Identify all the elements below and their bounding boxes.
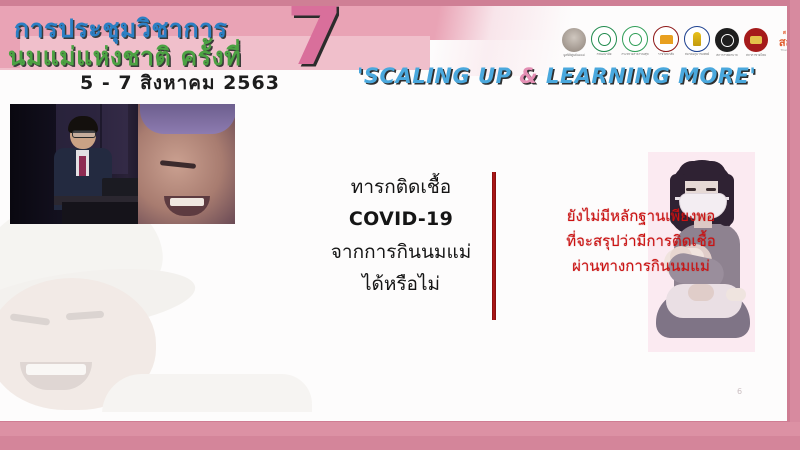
sss-logo-sub: Thai Health xyxy=(780,48,787,52)
green-medical-emblem-logo: กรมอนามัย xyxy=(591,26,617,52)
tagline-part1: 'SCALING UP xyxy=(357,64,519,88)
conference-edition-number: 7 xyxy=(286,6,343,78)
question-line-3: จากการกินนมแม่ xyxy=(322,236,480,268)
background-child-photo-watermark xyxy=(0,212,322,412)
answer-line-1: ยังไม่มีหลักฐานเพียงพอ xyxy=(500,204,782,229)
red-crest-logo: สภากาชาดไทย xyxy=(744,28,768,52)
mother-hand xyxy=(688,284,714,301)
projected-baby-teeth xyxy=(170,198,204,206)
royal-crest-logo-caption: ราชวิทยาลัย xyxy=(658,52,674,57)
speaker-glasses xyxy=(72,130,96,138)
vertical-red-divider xyxy=(492,172,496,320)
baby-foot xyxy=(726,288,746,301)
gold-pillar-emblem-logo-caption: สมาคมกุมารแพทย์ xyxy=(685,52,709,57)
speaker-tie xyxy=(79,156,86,176)
tagline-part2: LEARNING MORE' xyxy=(538,64,756,88)
question-line-4: ได้หรือไม่ xyxy=(322,268,480,300)
slide-question-text: ทารกติดเชื้อ COVID-19 จากการกินนมแม่ ได้… xyxy=(322,171,480,300)
thaihealth-sss-logo: สสส สสส Thai Health xyxy=(773,28,787,52)
watermark-body xyxy=(102,374,312,412)
green-ring-emblem-logo-caption: กระทรวงสาธารณสุข xyxy=(621,52,648,57)
answer-line-2: ที่จะสรุปว่ามีการติดเชื้อ xyxy=(500,229,782,254)
mother-eye-right xyxy=(706,188,716,191)
slide-viewer: การประชุมวิชาการ นมแม่แห่งชาติ ครั้งที่ … xyxy=(0,0,800,450)
projected-baby-hat xyxy=(140,104,235,134)
green-medical-emblem-logo-caption: กรมอนามัย xyxy=(597,52,612,57)
gold-pillar-emblem-logo: สมาคมกุมารแพทย์ xyxy=(684,26,710,52)
conference-tagline: 'SCALING UP & LEARNING MORE' xyxy=(357,64,756,88)
mother-eye-left xyxy=(686,188,696,191)
sss-logo-main: สสส xyxy=(779,37,787,48)
podium-base xyxy=(62,202,147,224)
answer-line-3: ผ่านทางการกินนมแม่ xyxy=(500,254,782,279)
tagline-ampersand: & xyxy=(519,64,538,88)
buddha-seal-logo-caption: มูลนิธิศูนย์นมแม่ xyxy=(563,53,584,58)
conference-date: 5 - 7 สิงหาคม 2563 xyxy=(80,68,280,94)
royal-crest-logo: ราชวิทยาลัย xyxy=(653,26,679,52)
slide-answer-text: ยังไม่มีหลักฐานเพียงพอ ที่จะสรุปว่ามีการ… xyxy=(500,204,782,278)
watermark-teeth xyxy=(26,364,86,375)
black-circle-emblem-logo-caption: สภาการพยาบาล xyxy=(716,53,737,58)
question-line-2: COVID-19 xyxy=(322,203,480,235)
green-ring-emblem-logo: กระทรวงสาธารณสุข xyxy=(622,26,648,52)
black-circle-emblem-logo: สภาการพยาบาล xyxy=(715,28,739,52)
sponsor-logo-row: มูลนิธิศูนย์นมแม่ กรมอนามัย กระทรวงสาธาร… xyxy=(562,26,787,52)
frame-right-border xyxy=(790,0,800,450)
presentation-slide: การประชุมวิชาการ นมแม่แห่งชาติ ครั้งที่ … xyxy=(0,6,787,421)
buddha-seal-logo: มูลนิธิศูนย์นมแม่ xyxy=(562,28,586,52)
conference-header-banner: การประชุมวิชาการ นมแม่แห่งชาติ ครั้งที่ … xyxy=(0,6,787,94)
slide-number: 6 xyxy=(737,387,742,396)
speaker-presentation-video xyxy=(10,104,235,224)
red-crest-logo-caption: สภากาชาดไทย xyxy=(746,53,766,58)
question-line-1: ทารกติดเชื้อ xyxy=(322,171,480,203)
frame-bottom-accent xyxy=(0,436,800,450)
